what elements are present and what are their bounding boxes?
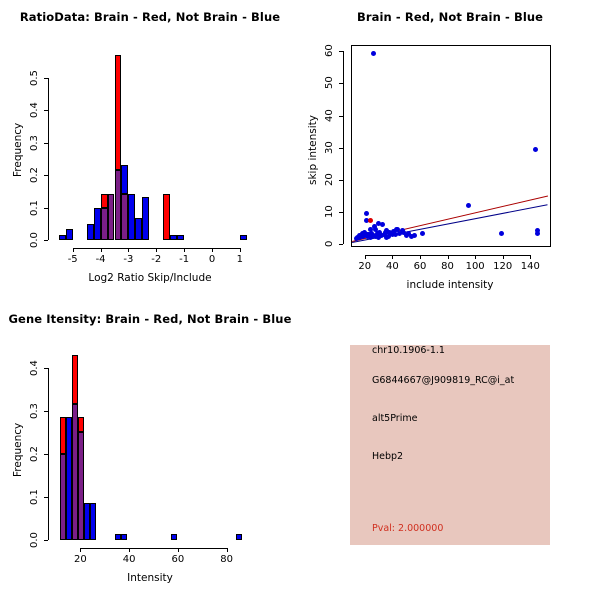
x-axis-title: Intensity [0, 572, 300, 584]
scatter-point-not-brain [380, 222, 385, 227]
y-axis-tick-label: 0.4 [29, 354, 41, 382]
scatter-point-not-brain [466, 203, 471, 208]
histogram-bar-overlap [115, 170, 122, 240]
x-axis-tick [184, 248, 185, 252]
ratio-histogram-title: RatioData: Brain - Red, Not Brain - Blue [0, 10, 300, 24]
x-axis-tick [129, 548, 130, 552]
event-type-label: alt5Prime [372, 413, 417, 424]
x-axis-tick-label: 60 [158, 554, 198, 565]
x-axis-tick [420, 255, 421, 259]
y-axis-tick-label: 0.3 [29, 129, 41, 157]
x-axis-title: include intensity [300, 279, 600, 291]
y-axis-tick-label: 10 [324, 198, 336, 226]
scatter-point-not-brain [499, 231, 504, 236]
y-axis-tick [339, 180, 343, 181]
histogram-bar-not-brain [240, 235, 247, 240]
y-axis-tick [44, 208, 48, 209]
y-axis-tick [339, 148, 343, 149]
x-axis-tick [101, 248, 102, 252]
y-axis-tick [44, 143, 48, 144]
histogram-bar-not-brain [135, 218, 142, 240]
y-axis-tick [44, 110, 48, 111]
y-axis-tick [339, 51, 343, 52]
x-axis-tick [448, 255, 449, 259]
scatter-point-not-brain [371, 51, 376, 56]
scatter-point-not-brain [376, 235, 381, 240]
plot-frame [351, 45, 551, 247]
scatter-point-not-brain [364, 211, 369, 216]
y-axis-tick-label: 60 [324, 37, 336, 65]
histogram-bar-not-brain [87, 224, 94, 240]
x-axis-tick [80, 548, 81, 552]
y-axis-title: skip intensity [307, 0, 319, 300]
x-axis-tick [392, 255, 393, 259]
y-axis-title: Frequency [12, 0, 24, 300]
x-axis-tick-label: 1 [220, 254, 260, 265]
y-axis-tick [339, 212, 343, 213]
histogram-bar-not-brain [236, 534, 242, 540]
x-axis-line [80, 548, 226, 549]
x-axis-tick [475, 255, 476, 259]
y-axis-tick-label: 20 [324, 166, 336, 194]
pval-label: Pval: 2.000000 [372, 523, 443, 534]
scatter-point-not-brain [393, 232, 398, 237]
x-axis-tick [73, 248, 74, 252]
x-axis-title: Log2 Ratio Skip/Include [0, 272, 300, 284]
y-axis-title: Frequency [12, 300, 24, 600]
y-axis-tick-label: 0.0 [29, 226, 41, 254]
y-axis-tick-label: 0.3 [29, 397, 41, 425]
y-axis-tick [339, 244, 343, 245]
gene-intensity-title: Gene Itensity: Brain - Red, Not Brain - … [0, 312, 300, 326]
x-axis-tick [365, 255, 366, 259]
y-axis-tick [44, 78, 48, 79]
x-axis-tick-label: 140 [510, 261, 550, 272]
locus-label: chr10.1906-1.1 [372, 345, 445, 356]
y-axis-tick-label: 40 [324, 102, 336, 130]
y-axis-tick-label: 0.4 [29, 96, 41, 124]
histogram-bar-brain [72, 355, 78, 404]
x-axis-tick [227, 548, 228, 552]
scatter-point-brain [368, 218, 373, 223]
x-axis-tick [128, 248, 129, 252]
y-axis-tick [44, 540, 48, 541]
histogram-bar-not-brain [66, 229, 73, 240]
x-axis-tick [212, 248, 213, 252]
histogram-bar-not-brain [171, 534, 177, 540]
y-axis-tick-label: 0.2 [29, 440, 41, 468]
histogram-bar-not-brain [128, 194, 135, 240]
x-axis-tick [503, 255, 504, 259]
histogram-bar-brain [101, 194, 108, 208]
x-axis-tick [178, 548, 179, 552]
y-axis-tick-label: 0.1 [29, 483, 41, 511]
probe-id-label: G6844667@J909819_RC@i_at [372, 375, 514, 386]
annotation-panel: G6844667@J909819_RC@i_at alt5Prime Hebp2… [300, 300, 600, 600]
x-axis-tick [530, 255, 531, 259]
scatter-point-not-brain [535, 231, 540, 236]
y-axis-tick-label: 30 [324, 134, 336, 162]
y-axis-tick [44, 368, 48, 369]
histogram-bar-not-brain [90, 503, 96, 540]
gene-symbol-label: Hebp2 [372, 451, 403, 462]
histogram-bar-overlap [101, 208, 108, 240]
histogram-bar-brain [163, 194, 170, 240]
histogram-bar-not-brain [59, 235, 66, 240]
histogram-bar-overlap [121, 194, 128, 240]
y-axis-tick-label: 0.1 [29, 194, 41, 222]
x-axis-tick-label: 80 [207, 554, 247, 565]
intensity-scatter-title: Brain - Red, Not Brain - Blue [300, 10, 600, 24]
y-axis-tick [44, 497, 48, 498]
y-axis-line [343, 51, 344, 243]
y-axis-tick-label: 50 [324, 69, 336, 97]
y-axis-tick-label: 0.2 [29, 161, 41, 189]
histogram-bar-brain [115, 55, 122, 170]
y-axis-tick-label: 0.0 [29, 526, 41, 554]
annotation-box: G6844667@J909819_RC@i_at alt5Prime Hebp2… [350, 345, 550, 545]
scatter-point-not-brain [412, 233, 417, 238]
y-axis-tick [44, 411, 48, 412]
histogram-bar-not-brain [121, 534, 127, 540]
histogram-bar-overlap [108, 194, 115, 240]
histogram-bar-not-brain [121, 165, 128, 193]
histogram-bar-not-brain [170, 235, 177, 240]
x-axis-tick [156, 248, 157, 252]
y-axis-line [48, 78, 49, 240]
gene-intensity-panel: Gene Itensity: Brain - Red, Not Brain - … [0, 300, 300, 600]
histogram-bar-not-brain [94, 208, 101, 240]
x-axis-tick [240, 248, 241, 252]
intensity-scatter-panel: Brain - Red, Not Brain - Blue 2040608010… [300, 0, 600, 300]
y-axis-tick [44, 175, 48, 176]
x-axis-tick-label: 20 [60, 554, 100, 565]
y-axis-tick-label: 0.5 [29, 64, 41, 92]
y-axis-tick [44, 240, 48, 241]
ratio-histogram-panel: RatioData: Brain - Red, Not Brain - Blue… [0, 0, 300, 300]
y-axis-tick [44, 454, 48, 455]
y-axis-tick [339, 83, 343, 84]
y-axis-line [48, 368, 49, 540]
x-axis-tick-label: 40 [109, 554, 149, 565]
histogram-bar-not-brain [142, 197, 149, 240]
histogram-bar-brain [78, 417, 84, 432]
y-axis-tick-label: 0 [324, 230, 336, 258]
histogram-bar-not-brain [177, 235, 184, 240]
y-axis-tick [339, 116, 343, 117]
